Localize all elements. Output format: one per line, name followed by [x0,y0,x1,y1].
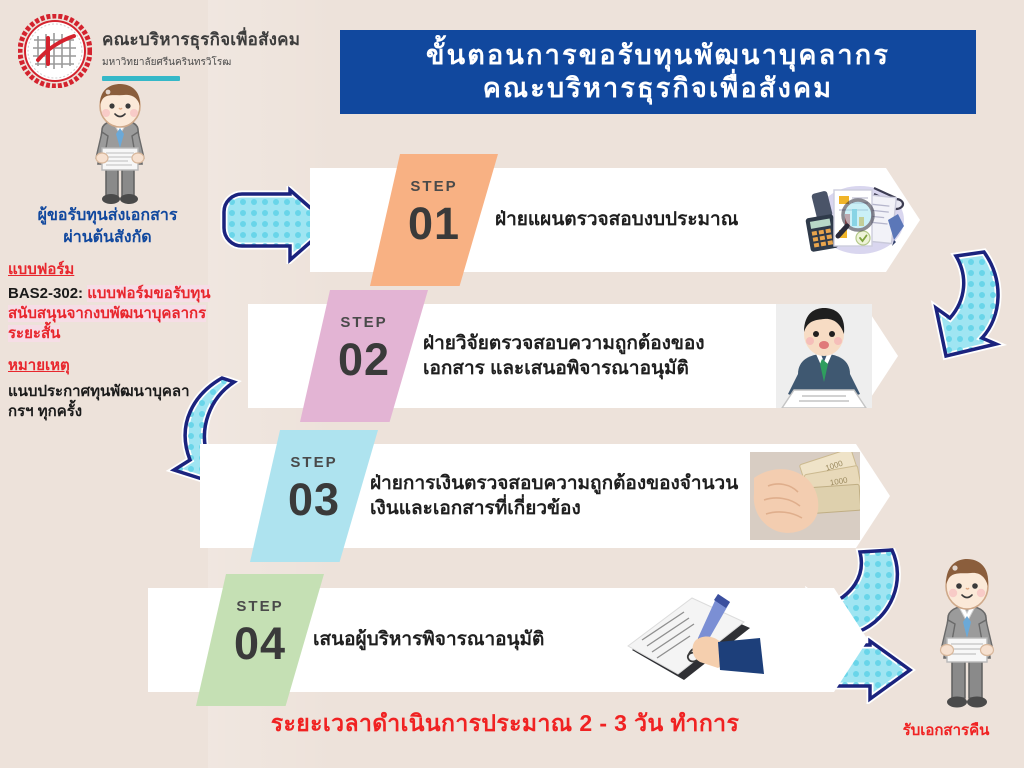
step-text-03: ฝ่ายการเงินตรวจสอบความถูกต้องของจำนวนเงิ… [370,444,750,548]
applicant-person [62,82,178,217]
document-audit-icon [800,168,920,272]
swu-seal-icon [18,14,92,88]
form-label: แบบฟอร์ม [0,257,215,281]
infographic-canvas: คณะบริหารธุรกิจเพื่อสังคม มหาวิทยาลัยศรี… [0,0,1024,768]
step-row-04[interactable]: STEP 04 เสนอผู้บริหารพิจารณาอนุมัติ [148,588,868,692]
note-label: หมายเหตุ [0,353,215,377]
page-title-line-1: ขั้นตอนการขอรับทุนพัฒนาบุคลากร [426,39,890,72]
faculty-name: คณะบริหารธุรกิจเพื่อสังคม [102,26,300,53]
form-code: BAS2-302: [8,285,83,302]
applicant-instruction-line-1: ผู้ขอรับทุนส่งเอกสาร [0,205,215,227]
logo-underline [102,76,180,81]
step-row-03[interactable]: STEP 03 ฝ่ายการเงินตรวจสอบความถูกต้องของ… [200,444,890,548]
logo-text-block: คณะบริหารธุรกิจเพื่อสังคม มหาวิทยาลัยศรี… [102,14,300,81]
arrow-curve-down-step1-icon [922,246,1018,369]
receiver-person [910,556,1018,723]
processing-duration-text: ระยะเวลาดำเนินการประมาณ 2 - 3 วัน ทำการ [215,706,795,742]
applicant-instruction-line-2: ผ่านต้นสังกัด [0,227,215,249]
form-details: BAS2-302: แบบฟอร์มขอรับทุนสนับสนุนจากงบพ… [0,284,215,343]
step-text-01: ฝ่ายแผนตรวจสอบงบประมาณ [495,168,815,272]
signing-document-icon [626,588,776,692]
page-title-banner: ขั้นตอนการขอรับทุนพัฒนาบุคลากร คณะบริหาร… [340,30,976,114]
step-text-02: ฝ่ายวิจัยตรวจสอบความถูกต้องของเอกสาร และ… [423,304,763,408]
step-row-01[interactable]: STEP 01 ฝ่ายแผนตรวจสอบงบประมาณ [310,168,920,272]
office-worker-icon [776,304,872,408]
cash-in-hand-icon: 1000 1000 [750,452,860,540]
university-name: มหาวิทยาลัยศรีนครินทรวิโรฒ [102,55,300,70]
step-row-02[interactable]: STEP 02 ฝ่ายวิจัยตรวจสอบความถูกต้องของเอ… [248,304,898,408]
faculty-logo: คณะบริหารธุรกิจเพื่อสังคม มหาวิทยาลัยศรี… [18,14,300,88]
return-documents-text: รับเอกสารคืน [876,718,1016,742]
step-text-04: เสนอผู้บริหารพิจารณาอนุมัติ [313,588,653,692]
page-title-line-2: คณะบริหารธุรกิจเพื่อสังคม [483,72,833,105]
